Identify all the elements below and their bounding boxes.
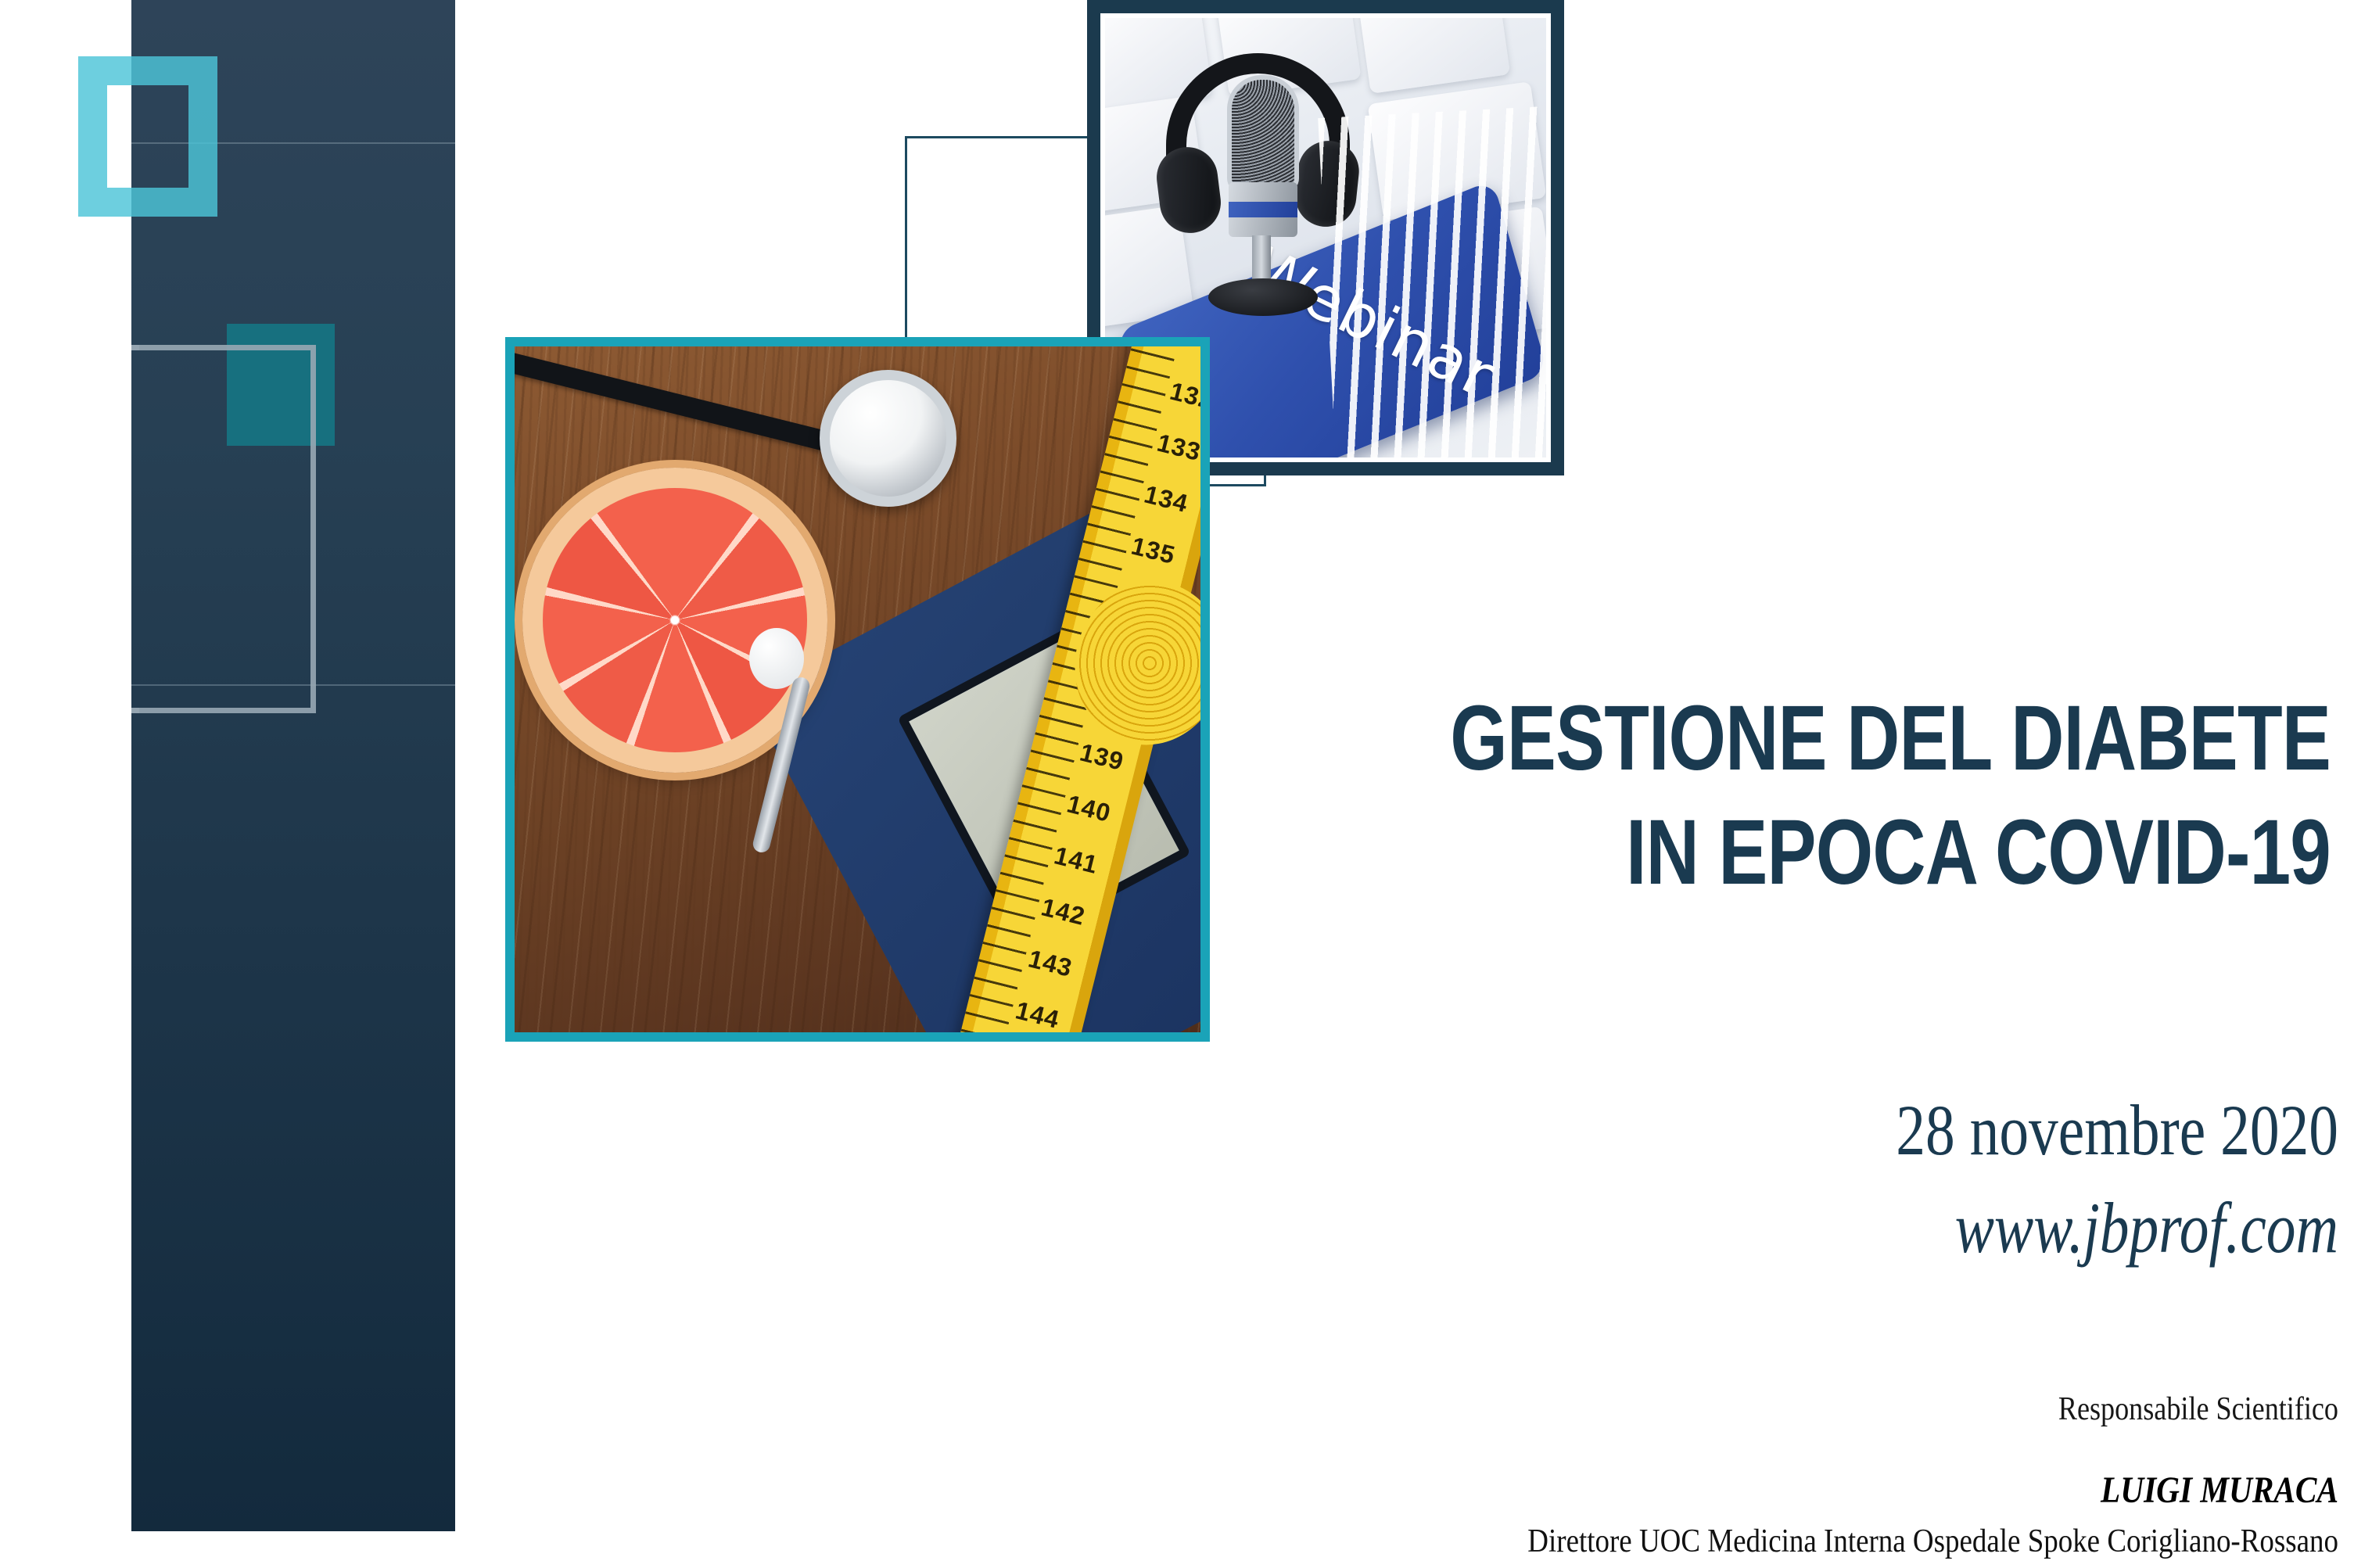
event-date: 28 novembre 2020 — [1511, 1091, 2338, 1169]
health-photo: 1321331341351361371381391401411421431441… — [515, 346, 1200, 1032]
decor-gray-stub-bottom — [131, 708, 139, 713]
decor-cyan-square-outline — [78, 56, 217, 217]
page-title-line-2: IN EPOCA COVID-19 — [1442, 806, 2331, 899]
health-image-frame: 1321331341351361371381391401411421431441… — [505, 337, 1210, 1042]
decor-dark-panel — [131, 0, 455, 1531]
microphone-base-icon — [1208, 278, 1318, 316]
decor-gray-stub-top — [131, 345, 139, 350]
microphone-ring-icon — [1229, 202, 1297, 217]
slide-canvas: Webinar — [0, 0, 2372, 1568]
page-title: GESTIONE DEL DIABETE IN EPOCA COVID-19 — [1442, 692, 2331, 899]
scientific-director-title: Direttore UOC Medicina Interna Ospedale … — [1265, 1523, 2338, 1560]
microphone-capsule-icon — [1227, 75, 1299, 192]
decor-gray-square-outline — [131, 345, 316, 713]
scientific-director-label: Responsabile Scientifico — [1606, 1390, 2338, 1428]
stethoscope-chestpiece-icon — [820, 370, 956, 507]
page-title-line-1: GESTIONE DEL DIABETE — [1442, 692, 2331, 784]
scientific-director-name: LUIGI MURACA — [1606, 1470, 2338, 1511]
event-website-link[interactable]: www.jbprof.com — [1511, 1189, 2338, 1267]
decor-white-stripes — [1318, 106, 1546, 457]
